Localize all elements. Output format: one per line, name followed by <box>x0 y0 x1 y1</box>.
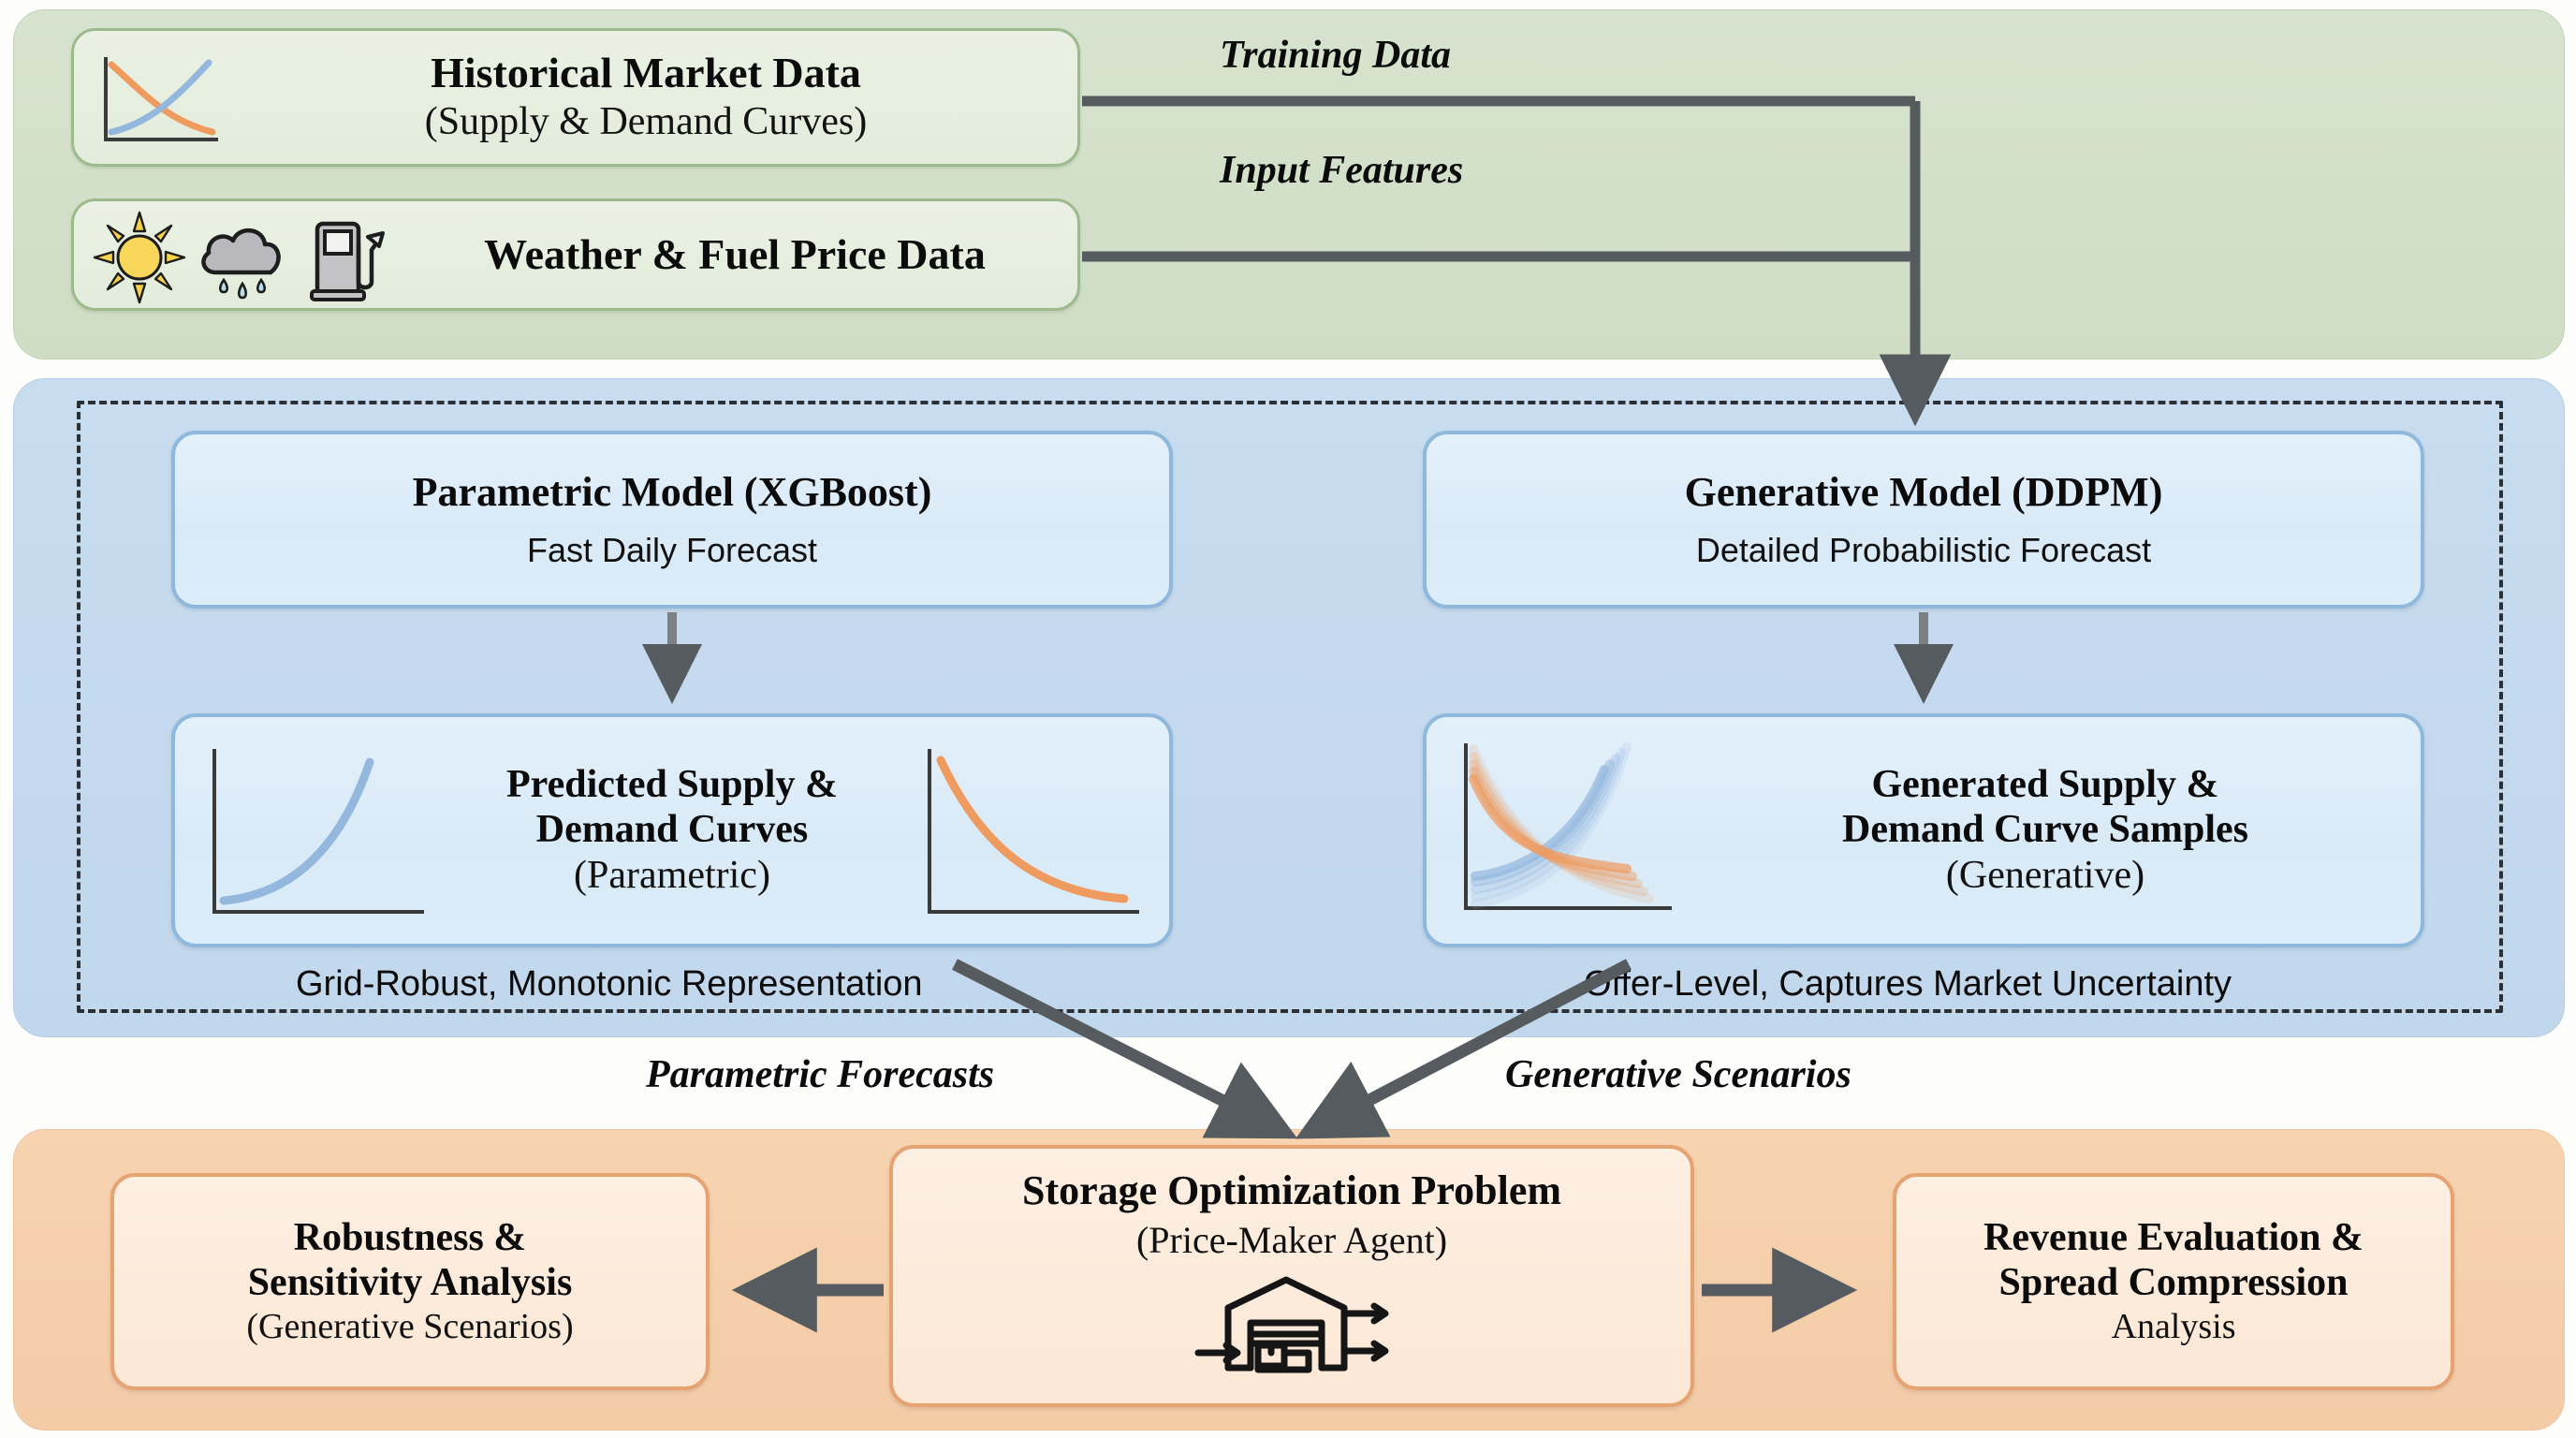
card-subtitle: (Price-Maker Agent) <box>1136 1218 1447 1263</box>
card-robustness-sensitivity[interactable]: Robustness & Sensitivity Analysis (Gener… <box>110 1173 710 1390</box>
caption-parametric-representation: Grid-Robust, Monotonic Representation <box>296 964 923 1005</box>
card-generative-model[interactable]: Generative Model (DDPM) Detailed Probabi… <box>1423 431 2424 609</box>
card-title-line2: Demand Curve Samples <box>1842 807 2248 852</box>
card-title-line1: Robustness & <box>294 1215 527 1260</box>
edge-label-input-features: Input Features <box>1220 148 1463 193</box>
edge-label-generative-scenarios: Generative Scenarios <box>1505 1052 1851 1097</box>
card-title: Parametric Model (XGBoost) <box>413 469 932 517</box>
card-weather-fuel-price-data[interactable]: Weather & Fuel Price Data <box>71 198 1080 311</box>
card-revenue-evaluation[interactable]: Revenue Evaluation & Spread Compression … <box>1893 1173 2454 1390</box>
edge-label-parametric-forecasts: Parametric Forecasts <box>646 1052 994 1097</box>
card-title: Generative Model (DDPM) <box>1685 469 2163 517</box>
card-title: Weather & Fuel Price Data <box>484 230 986 280</box>
decreasing-demand-curve-icon <box>915 743 1149 927</box>
warehouse-storage-icon <box>1189 1270 1395 1385</box>
card-title-line2: Demand Curves <box>536 807 809 852</box>
caption-generative-uncertainty: Offer-Level, Captures Market Uncertainty <box>1584 964 2232 1005</box>
sun-icon <box>93 211 186 304</box>
card-storage-optimization[interactable]: Storage Optimization Problem (Price-Make… <box>889 1145 1694 1407</box>
curve-ensemble-samples-icon <box>1451 740 1681 927</box>
card-title-line2: Sensitivity Analysis <box>248 1260 573 1305</box>
card-title-line1: Predicted Supply & <box>506 762 838 807</box>
card-title-line1: Revenue Evaluation & <box>1983 1215 2364 1260</box>
card-title-line2: Spread Compression <box>1998 1260 2348 1305</box>
card-title-line1: Generated Supply & <box>1871 762 2218 807</box>
fuel-pump-icon <box>308 213 392 306</box>
rain-cloud-icon <box>194 214 291 304</box>
card-title: Historical Market Data <box>431 49 861 98</box>
card-subtitle: (Parametric) <box>574 852 770 899</box>
card-subtitle: Analysis <box>2112 1306 2236 1349</box>
card-subtitle: Detailed Probabilistic Forecast <box>1696 530 2151 570</box>
diagram-canvas: Historical Market Data (Supply & Demand … <box>0 0 2576 1438</box>
card-subtitle: Fast Daily Forecast <box>527 530 817 570</box>
card-title: Storage Optimization Problem <box>1022 1167 1561 1215</box>
increasing-supply-curve-icon <box>199 743 433 927</box>
supply-demand-curve-chart-icon <box>95 51 226 149</box>
card-predicted-curves[interactable]: Predicted Supply & Demand Curves (Parame… <box>171 713 1173 947</box>
card-subtitle: (Supply & Demand Curves) <box>425 98 867 145</box>
card-historical-market-data[interactable]: Historical Market Data (Supply & Demand … <box>71 28 1080 167</box>
edge-label-training-data: Training Data <box>1220 33 1451 78</box>
card-subtitle: (Generative Scenarios) <box>246 1306 573 1349</box>
card-parametric-model[interactable]: Parametric Model (XGBoost) Fast Daily Fo… <box>171 431 1173 609</box>
card-subtitle: (Generative) <box>1946 852 2144 899</box>
card-generated-curves[interactable]: Generated Supply & Demand Curve Samples … <box>1423 713 2424 947</box>
